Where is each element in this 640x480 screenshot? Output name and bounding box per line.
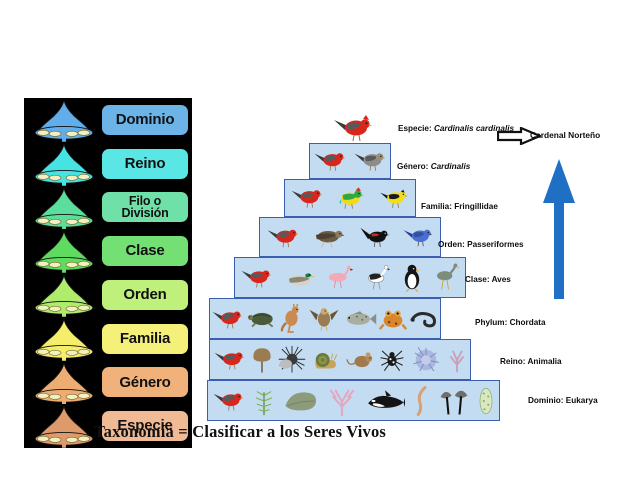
organism-hawk bbox=[308, 305, 340, 333]
pyramid-step-orden bbox=[259, 217, 441, 257]
organism-kangaroo bbox=[280, 304, 306, 334]
organism-orca bbox=[365, 389, 405, 413]
organism-turtle bbox=[246, 308, 278, 330]
organism-seabird bbox=[364, 263, 390, 293]
organism-plant bbox=[253, 385, 275, 417]
pyramid-step-clase bbox=[234, 257, 466, 298]
label-reino: Reino: Animalia bbox=[500, 357, 562, 366]
organism-snail bbox=[311, 349, 339, 371]
label-familia: Familia: Fringillidae bbox=[421, 202, 498, 211]
organism-coral bbox=[447, 347, 467, 373]
organism-fish bbox=[343, 308, 377, 330]
organism-bird bbox=[213, 347, 246, 373]
pyramid-step-genero bbox=[309, 143, 391, 179]
pyramid-step-reino bbox=[209, 339, 471, 380]
organism-heron bbox=[434, 262, 460, 294]
organism-bird bbox=[353, 148, 387, 174]
caption-text: Taxonomía = Clasificar a los Seres Vivos bbox=[94, 422, 386, 442]
organism-sea-urchin bbox=[278, 345, 306, 375]
organism-bird bbox=[211, 306, 244, 332]
taxonomy-pyramid: Especie: Cardinalis cardinalis Género: C… bbox=[0, 0, 640, 480]
organism-bird bbox=[335, 184, 367, 212]
organism-bird bbox=[240, 265, 273, 291]
label-clase: Clase: Aves bbox=[465, 275, 511, 284]
label-phylum: Phylum: Chordata bbox=[475, 318, 546, 327]
organism-duck bbox=[283, 266, 316, 290]
label-dominio: Dominio: Eukarya bbox=[528, 396, 598, 405]
organism-protist bbox=[477, 386, 495, 416]
organism-worm bbox=[413, 386, 431, 416]
organism-salamander bbox=[409, 308, 439, 330]
organism-mouse bbox=[344, 348, 374, 372]
organism-sponge bbox=[410, 345, 442, 375]
organism-penguin bbox=[400, 263, 424, 293]
label-genero: Género: Cardinalis bbox=[397, 162, 470, 171]
organism-frog bbox=[379, 307, 407, 331]
organism-bird bbox=[402, 224, 434, 250]
organism-bird bbox=[378, 185, 410, 211]
taxonomy-diagram: DominioReinoFilo o DivisiónClaseOrdenFam… bbox=[0, 0, 640, 480]
organism-mushroom bbox=[439, 386, 469, 416]
diagram-caption: Taxonomía = Clasificar a los Seres Vivos bbox=[0, 422, 640, 442]
organism-leaf bbox=[283, 388, 319, 414]
label-orden: Orden: Passeriformes bbox=[438, 240, 524, 249]
organism-flamingo bbox=[326, 264, 354, 292]
organism-bird bbox=[313, 148, 347, 174]
pyramid-step-familia bbox=[284, 179, 416, 217]
organism-horseshoe-crab bbox=[251, 345, 273, 375]
organism-bird bbox=[290, 185, 324, 211]
organism-bird bbox=[311, 224, 347, 251]
organism-spider bbox=[379, 347, 405, 373]
organism-bird bbox=[266, 224, 300, 251]
arrow-up-icon bbox=[539, 157, 579, 300]
organism-bird bbox=[212, 388, 245, 414]
organism-bird bbox=[359, 223, 391, 251]
pyramid-step-dominio bbox=[207, 380, 500, 421]
organism-cardinal-apex bbox=[332, 114, 374, 144]
pyramid-step-phylum bbox=[209, 298, 441, 339]
organism-coral-pink bbox=[327, 386, 357, 416]
result-common-name: Cardenal Norteño bbox=[530, 130, 600, 140]
